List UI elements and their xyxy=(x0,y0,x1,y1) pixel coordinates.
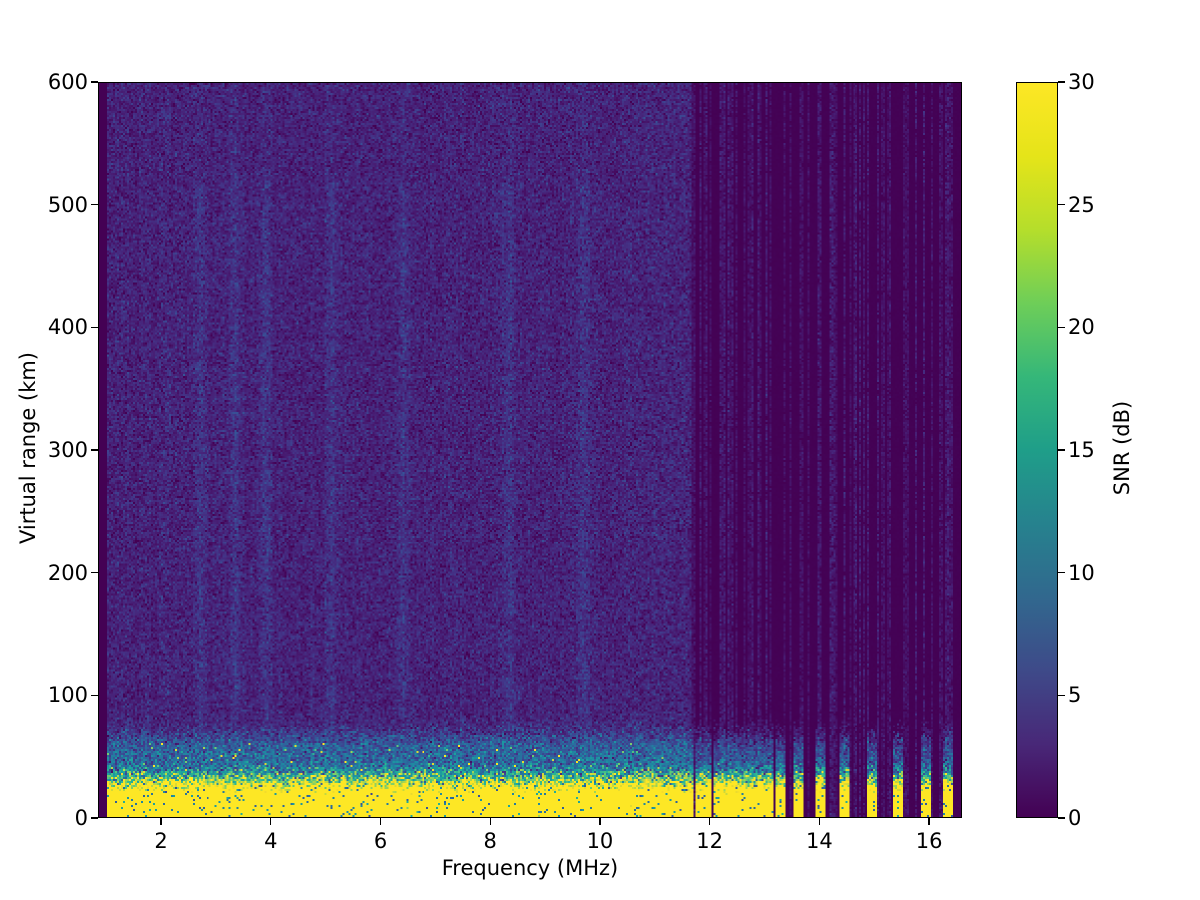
colorbar-tick-label: 0 xyxy=(1068,805,1128,831)
colorbar xyxy=(1016,82,1058,818)
colorbar-tick-label: 5 xyxy=(1068,682,1128,708)
x-axis-label: Frequency (MHz) xyxy=(98,856,962,880)
ionogram-heatmap xyxy=(99,83,961,817)
x-tick-label: 10 xyxy=(560,828,640,854)
x-tick-mark xyxy=(819,818,820,825)
colorbar-tick-mark xyxy=(1058,81,1065,82)
y-tick-label: 0 xyxy=(6,805,88,831)
y-tick-label: 600 xyxy=(6,69,88,95)
x-tick-mark xyxy=(928,818,929,825)
x-tick-label: 14 xyxy=(779,828,859,854)
plot-area xyxy=(98,82,962,818)
x-tick-mark xyxy=(599,818,600,825)
y-tick-mark xyxy=(91,572,98,573)
x-tick-mark xyxy=(709,818,710,825)
x-tick-mark xyxy=(490,818,491,825)
y-axis-label: Virtual range (km) xyxy=(16,168,40,728)
y-tick-mark xyxy=(91,327,98,328)
x-tick-label: 4 xyxy=(231,828,311,854)
x-tick-label: 6 xyxy=(341,828,421,854)
y-tick-mark xyxy=(91,695,98,696)
x-tick-label: 8 xyxy=(450,828,530,854)
x-tick-label: 12 xyxy=(670,828,750,854)
colorbar-tick-mark xyxy=(1058,204,1065,205)
colorbar-tick-label: 25 xyxy=(1068,192,1128,218)
x-tick-mark xyxy=(160,818,161,825)
colorbar-tick-mark xyxy=(1058,695,1065,696)
y-tick-mark xyxy=(91,449,98,450)
x-tick-label: 2 xyxy=(121,828,201,854)
y-tick-mark xyxy=(91,817,98,818)
colorbar-tick-mark xyxy=(1058,817,1065,818)
colorbar-tick-label: 30 xyxy=(1068,69,1128,95)
x-tick-mark xyxy=(380,818,381,825)
y-tick-mark xyxy=(91,81,98,82)
colorbar-tick-mark xyxy=(1058,449,1065,450)
colorbar-tick-mark xyxy=(1058,327,1065,328)
colorbar-gradient xyxy=(1017,83,1057,817)
colorbar-label: SNR (dB) xyxy=(1110,278,1134,618)
x-tick-label: 16 xyxy=(889,828,969,854)
x-tick-mark xyxy=(270,818,271,825)
ionogram-figure: IRF Kiruna Ionosonde KI167 2025-09-23 17… xyxy=(0,0,1200,900)
y-tick-mark xyxy=(91,204,98,205)
colorbar-tick-mark xyxy=(1058,572,1065,573)
